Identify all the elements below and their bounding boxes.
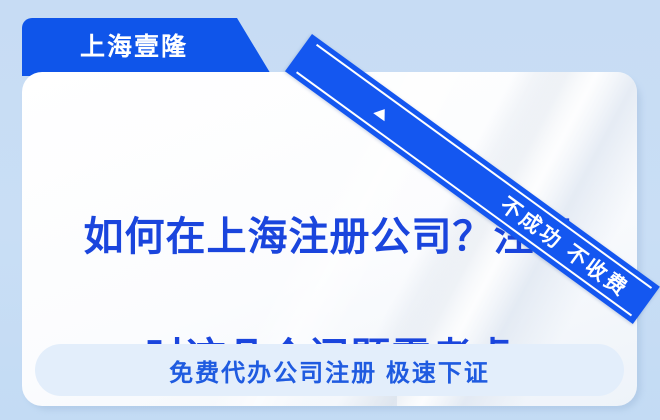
cta-pill[interactable]: 免费代办公司注册 极速下证 <box>35 344 624 396</box>
brand-tab-label: 上海壹隆 <box>80 35 188 60</box>
promo-banner: 上海壹隆 如何在上海注册公司？注册 时这几个问题需考虑 免费代办公司注册 极速下… <box>0 0 660 420</box>
brand-tab[interactable]: 上海壹隆 <box>22 18 272 76</box>
cta-pill-label: 免费代办公司注册 极速下证 <box>169 353 490 388</box>
triangle-up-icon <box>373 105 390 121</box>
